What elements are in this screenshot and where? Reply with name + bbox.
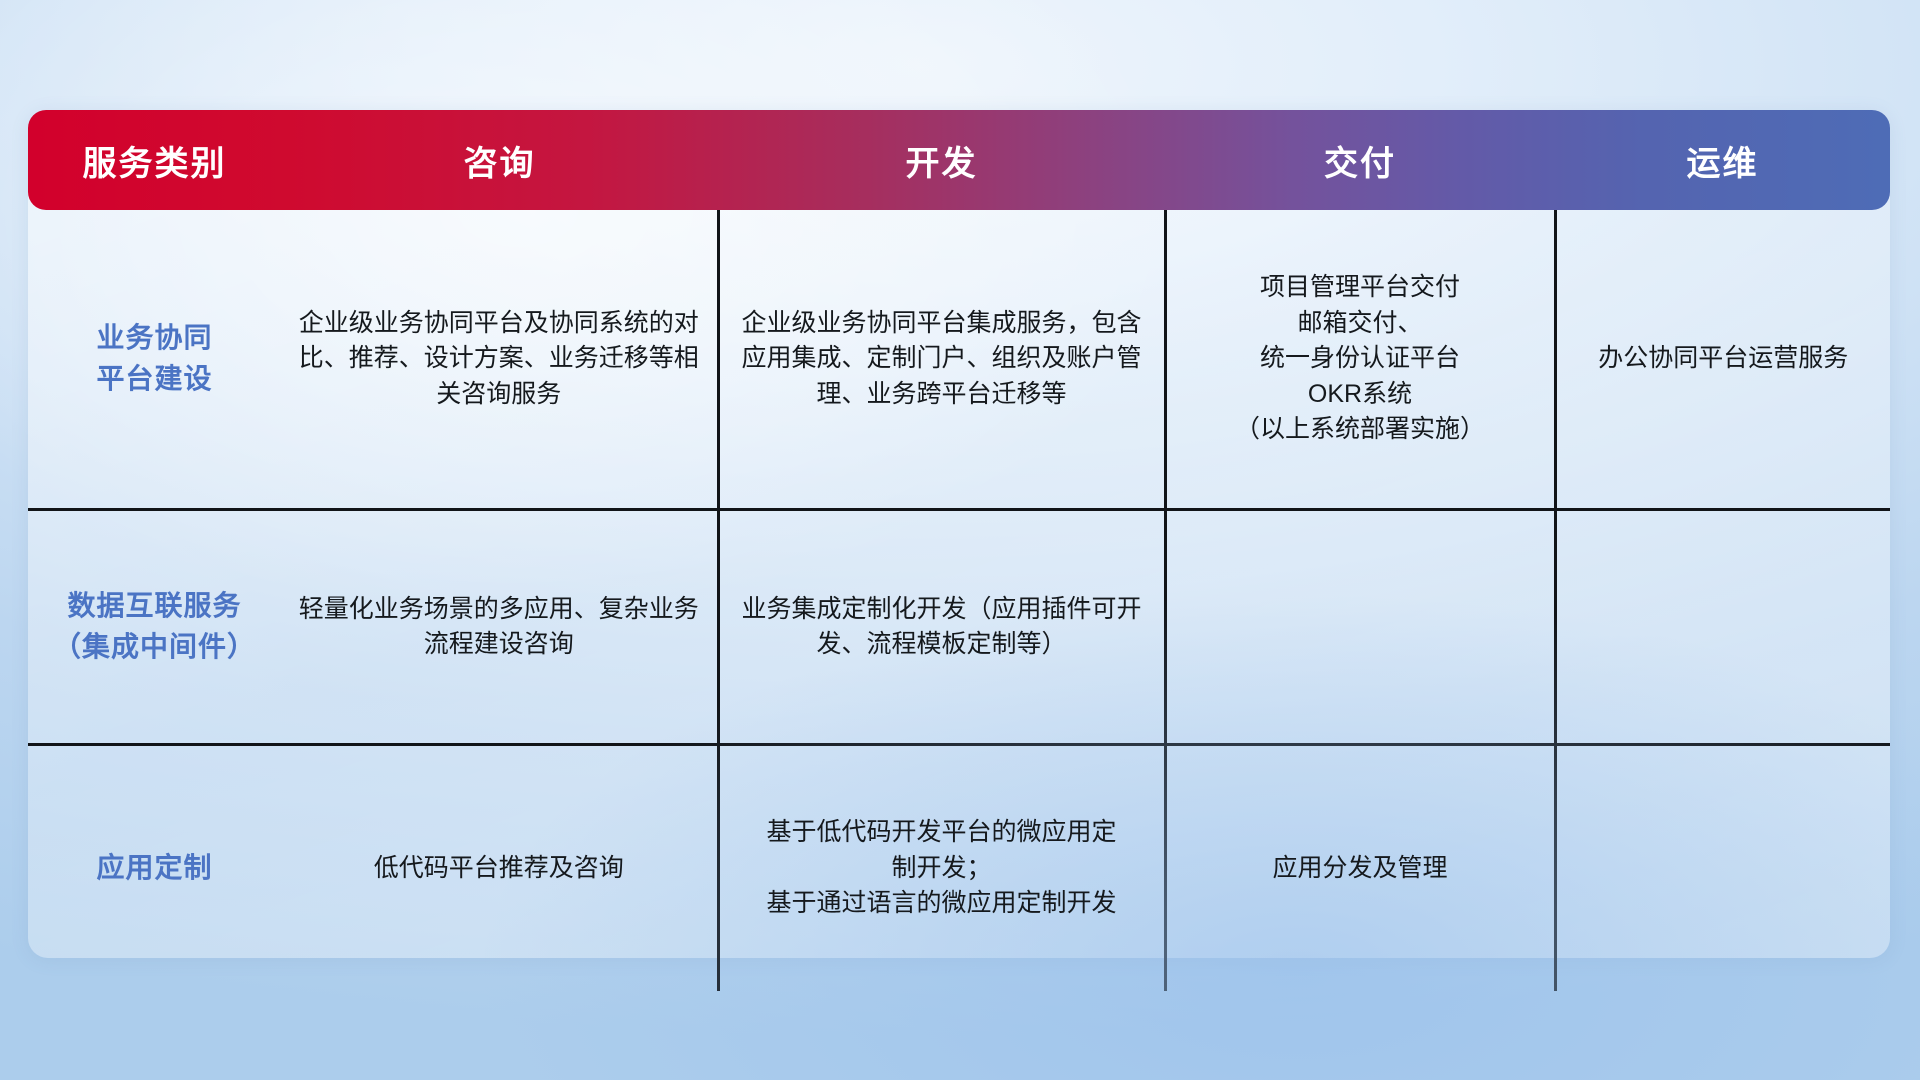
cell-r2-consulting: 轻量化业务场景的多应用、复杂业务流程建设咨询 (281, 510, 718, 745)
column-header-consulting: 咨询 (281, 110, 718, 210)
table-row: 数据互联服务 （集成中间件） 轻量化业务场景的多应用、复杂业务流程建设咨询 业务… (28, 510, 1890, 745)
cell-line: 基于低代码开发平台的微应用定 (734, 815, 1150, 851)
cell-r1-consulting: 企业级业务协同平台及协同系统的对比、推荐、设计方案、业务迁移等相关咨询服务 (281, 210, 718, 510)
cell-line: 统一身份认证平台 (1181, 341, 1540, 377)
column-header-delivery: 交付 (1165, 110, 1555, 210)
row-label-line: 业务协同 (42, 318, 267, 359)
column-header-development: 开发 (718, 110, 1165, 210)
cell-r2-operations (1555, 510, 1890, 745)
cell-r3-consulting: 低代码平台推荐及咨询 (281, 745, 718, 992)
row-label-app-customization: 应用定制 (28, 745, 281, 992)
row-label-line: 数据互联服务 (42, 586, 267, 627)
column-header-category: 服务类别 (28, 110, 281, 210)
column-header-operations: 运维 (1555, 110, 1890, 210)
cell-r1-delivery: 项目管理平台交付 邮箱交付、 统一身份认证平台 OKR系统 （以上系统部署实施） (1165, 210, 1555, 510)
cell-line: 基于通过语言的微应用定制开发 (734, 886, 1150, 922)
slide-canvas: 服务类别 咨询 开发 交付 运维 业务协同 平台建设 企业级业务协同平台及协同系… (0, 0, 1920, 1080)
cell-r2-delivery (1165, 510, 1555, 745)
cell-r1-development: 企业级业务协同平台集成服务，包含应用集成、定制门户、组织及账户管理、业务跨平台迁… (718, 210, 1165, 510)
cell-r3-operations (1555, 745, 1890, 992)
table-header-row: 服务类别 咨询 开发 交付 运维 (28, 110, 1890, 210)
cell-r1-operations: 办公协同平台运营服务 (1555, 210, 1890, 510)
cell-line: 制开发； (734, 851, 1150, 887)
row-label-business-collaboration: 业务协同 平台建设 (28, 210, 281, 510)
table-row: 业务协同 平台建设 企业级业务协同平台及协同系统的对比、推荐、设计方案、业务迁移… (28, 210, 1890, 510)
service-matrix-table: 服务类别 咨询 开发 交付 运维 业务协同 平台建设 企业级业务协同平台及协同系… (28, 110, 1890, 991)
row-label-line: 应用定制 (42, 848, 267, 889)
cell-line: （以上系统部署实施） (1181, 412, 1540, 448)
row-label-line: （集成中间件） (42, 627, 267, 668)
table-row: 应用定制 低代码平台推荐及咨询 基于低代码开发平台的微应用定 制开发； 基于通过… (28, 745, 1890, 992)
cell-line: 邮箱交付、 (1181, 306, 1540, 342)
cell-line: OKR系统 (1181, 377, 1540, 413)
cell-r3-development: 基于低代码开发平台的微应用定 制开发； 基于通过语言的微应用定制开发 (718, 745, 1165, 992)
row-label-line: 平台建设 (42, 359, 267, 400)
cell-r3-delivery: 应用分发及管理 (1165, 745, 1555, 992)
row-label-data-interconnect: 数据互联服务 （集成中间件） (28, 510, 281, 745)
cell-line: 项目管理平台交付 (1181, 270, 1540, 306)
cell-r2-development: 业务集成定制化开发（应用插件可开发、流程模板定制等） (718, 510, 1165, 745)
